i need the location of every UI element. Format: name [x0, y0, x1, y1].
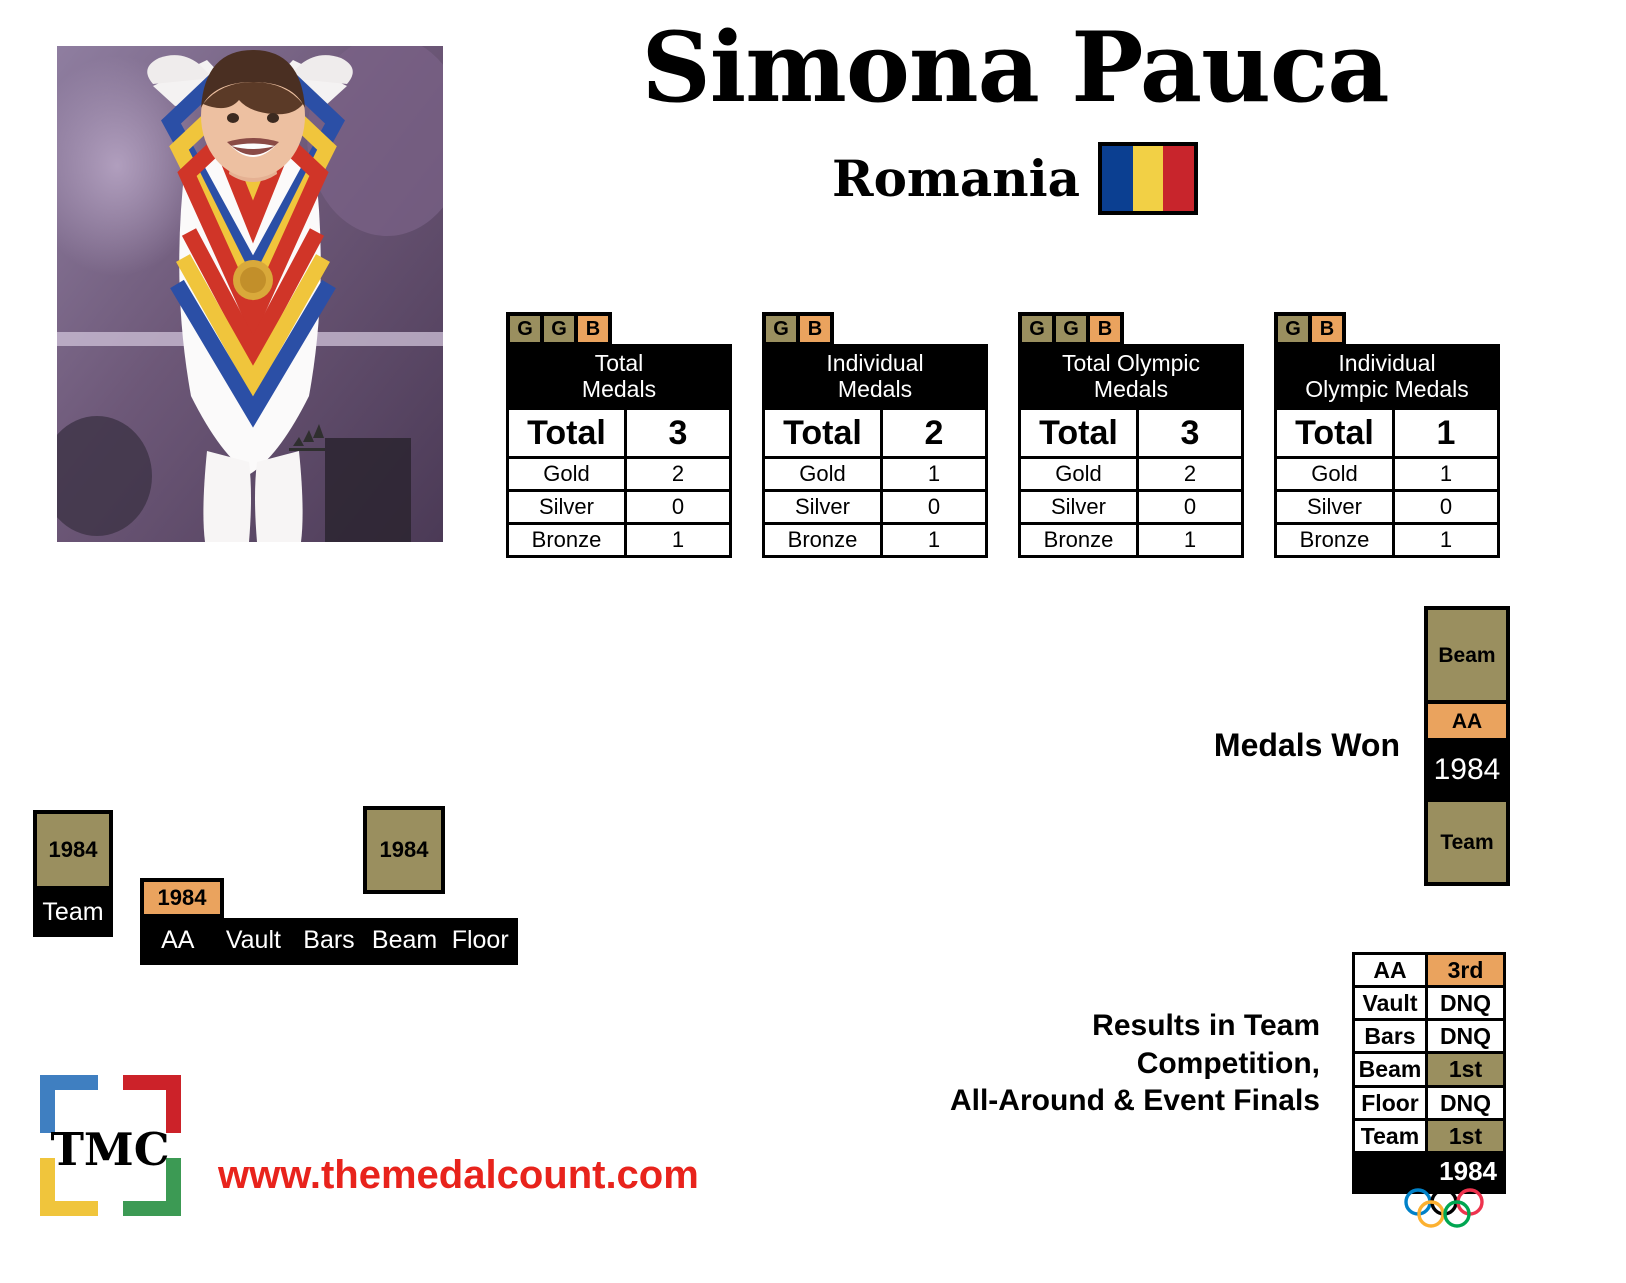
table-row: Vault DNQ [1355, 988, 1503, 1018]
country-name: Romania [832, 154, 1080, 204]
bar-aa-label: 1984 [144, 882, 220, 914]
heading-line-2: Medals [1021, 377, 1241, 403]
heading-line-1: Total [509, 351, 729, 377]
table-row: Gold 2 [1021, 459, 1241, 489]
page-title: Simona Pauca [470, 18, 1560, 119]
bars-row: 1984 [140, 866, 518, 918]
row-label: Silver [1277, 492, 1392, 522]
medal-chips: G G B [1018, 312, 1124, 344]
olympic-rings-icon [1398, 1186, 1508, 1230]
results-label: Results in Team Competition, All-Around … [930, 1007, 1320, 1120]
row-label: Gold [509, 459, 624, 489]
total-label: Total [509, 410, 624, 456]
result-place: 1st [1428, 1121, 1503, 1151]
results-label-line-1: Results in Team Competition, [930, 1007, 1320, 1082]
bar-team-label: 1984 [37, 814, 109, 886]
table-row: Bars DNQ [1355, 1021, 1503, 1051]
row-value: 1 [883, 525, 985, 555]
chip-gold: G [510, 316, 540, 342]
medals-won-segment-beam: Beam [1428, 610, 1506, 700]
medal-chips: G G B [506, 312, 612, 344]
flag-stripe-red [1163, 146, 1194, 211]
table-row: AA 3rd [1355, 955, 1503, 985]
medal-table-individual-olympic-medals: G B Individual Olympic Medals Total 1 Go… [1274, 312, 1500, 558]
medals-won-segment-aa: AA [1428, 704, 1506, 738]
table-heading: Individual Medals [765, 347, 985, 410]
tmc-logo-text: TMC [50, 1123, 169, 1176]
bar-col-aa: 1984 [140, 878, 224, 918]
chip-gold: G [544, 316, 574, 342]
bar-team: 1984 [33, 810, 113, 890]
tmc-logo: TMC [38, 1073, 183, 1218]
table-row: Bronze 1 [765, 525, 985, 555]
medals-won-year: 1984 [1428, 742, 1506, 798]
chip-bronze: B [578, 316, 608, 342]
flag-stripe-yellow [1133, 146, 1164, 211]
athlete-photo [57, 46, 443, 542]
bar-aa: 1984 [140, 878, 224, 918]
bar-chart-events: 1984 AA Vault Bars Beam Floor [140, 866, 518, 965]
row-value: 0 [883, 492, 985, 522]
website-url[interactable]: www.themedalcount.com [218, 1155, 699, 1195]
table-row-total: Total 3 [509, 410, 729, 456]
table-row: Bronze 1 [1277, 525, 1497, 555]
chip-gold: G [766, 316, 796, 342]
table-row: Silver 0 [765, 492, 985, 522]
total-value: 3 [627, 410, 729, 456]
table-row-total: Total 3 [1021, 410, 1241, 456]
medals-won-segment-team: Team [1428, 802, 1506, 882]
total-value: 3 [1139, 410, 1241, 456]
result-event: Beam [1355, 1054, 1425, 1084]
row-value: 2 [627, 459, 729, 489]
heading-line-1: Individual [765, 351, 985, 377]
result-event: AA [1355, 955, 1425, 985]
table-row: Silver 0 [509, 492, 729, 522]
result-place: DNQ [1428, 1088, 1503, 1118]
row-value: 1 [1395, 525, 1497, 555]
chip-bronze: B [1090, 316, 1120, 342]
row-value: 1 [1395, 459, 1497, 489]
row-label: Bronze [1277, 525, 1392, 555]
result-event: Floor [1355, 1088, 1425, 1118]
total-value: 2 [883, 410, 985, 456]
medal-chips: G B [1274, 312, 1346, 344]
axis-label-aa: AA [140, 926, 216, 955]
chip-gold: G [1056, 316, 1086, 342]
result-event: Team [1355, 1121, 1425, 1151]
medal-table-total-olympic-medals: G G B Total Olympic Medals Total 3 Gold … [1018, 312, 1244, 558]
result-place: 1st [1428, 1054, 1503, 1084]
results-table: AA 3rd Vault DNQ Bars DNQ Beam 1st Floor… [1352, 952, 1506, 1194]
axis-label-beam: Beam [367, 926, 443, 955]
medals-won-label: Medals Won [1140, 727, 1400, 764]
result-event: Bars [1355, 1021, 1425, 1051]
heading-line-1: Total Olympic [1021, 351, 1241, 377]
row-value: 1 [1139, 525, 1241, 555]
heading-line-1: Individual [1277, 351, 1497, 377]
table-row: Beam 1st [1355, 1054, 1503, 1084]
medal-chips: G B [762, 312, 834, 344]
table-row-total: Total 2 [765, 410, 985, 456]
row-label: Gold [1277, 459, 1392, 489]
total-label: Total [1021, 410, 1136, 456]
result-place: DNQ [1428, 1021, 1503, 1051]
table-row: Gold 2 [509, 459, 729, 489]
table-row: Silver 0 [1277, 492, 1497, 522]
axis-label-floor: Floor [442, 926, 518, 955]
medal-table-total-medals: G G B Total Medals Total 3 Gold 2 Silver… [506, 312, 732, 558]
table-row: Bronze 1 [1021, 525, 1241, 555]
heading-line-2: Olympic Medals [1277, 377, 1497, 403]
total-label: Total [765, 410, 880, 456]
flag-stripe-blue [1102, 146, 1133, 211]
row-label: Bronze [509, 525, 624, 555]
row-label: Silver [1021, 492, 1136, 522]
row-value: 1 [627, 525, 729, 555]
table-row: Team 1st [1355, 1121, 1503, 1151]
result-place: DNQ [1428, 988, 1503, 1018]
heading-line-2: Medals [509, 377, 729, 403]
row-label: Silver [509, 492, 624, 522]
row-value: 1 [883, 459, 985, 489]
table-heading: Individual Olympic Medals [1277, 347, 1497, 410]
axis-label-vault: Vault [216, 926, 292, 955]
romania-flag-icon [1098, 142, 1198, 215]
chip-bronze: B [1312, 316, 1342, 342]
row-value: 0 [627, 492, 729, 522]
row-label: Silver [765, 492, 880, 522]
table-row-total: Total 1 [1277, 410, 1497, 456]
row-label: Gold [1021, 459, 1136, 489]
table-row: Floor DNQ [1355, 1088, 1503, 1118]
row-value: 2 [1139, 459, 1241, 489]
table-row: Silver 0 [1021, 492, 1241, 522]
row-value: 0 [1139, 492, 1241, 522]
medal-table-individual-medals: G B Individual Medals Total 2 Gold 1 Sil… [762, 312, 988, 558]
table-row: Gold 1 [765, 459, 985, 489]
chip-bronze: B [800, 316, 830, 342]
row-label: Bronze [765, 525, 880, 555]
table-heading: Total Olympic Medals [1021, 347, 1241, 410]
table-row: Bronze 1 [509, 525, 729, 555]
heading-line-2: Medals [765, 377, 985, 403]
row-label: Bronze [1021, 525, 1136, 555]
total-value: 1 [1395, 410, 1497, 456]
chip-gold: G [1278, 316, 1308, 342]
axis-label-bars: Bars [291, 926, 367, 955]
row-value: 0 [1395, 492, 1497, 522]
country-row: Romania [470, 142, 1560, 215]
table-row: Gold 1 [1277, 459, 1497, 489]
axis-label-team: Team [33, 890, 113, 937]
axis-labels: AA Vault Bars Beam Floor [140, 918, 518, 965]
bar-chart-team: 1984 Team [33, 810, 113, 937]
total-label: Total [1277, 410, 1392, 456]
row-label: Gold [765, 459, 880, 489]
result-place: 3rd [1428, 955, 1503, 985]
table-heading: Total Medals [509, 347, 729, 410]
result-event: Vault [1355, 988, 1425, 1018]
medals-won-chart: Beam AA 1984 Team [1424, 606, 1510, 886]
chip-gold: G [1022, 316, 1052, 342]
results-label-line-2: All-Around & Event Finals [930, 1082, 1320, 1120]
